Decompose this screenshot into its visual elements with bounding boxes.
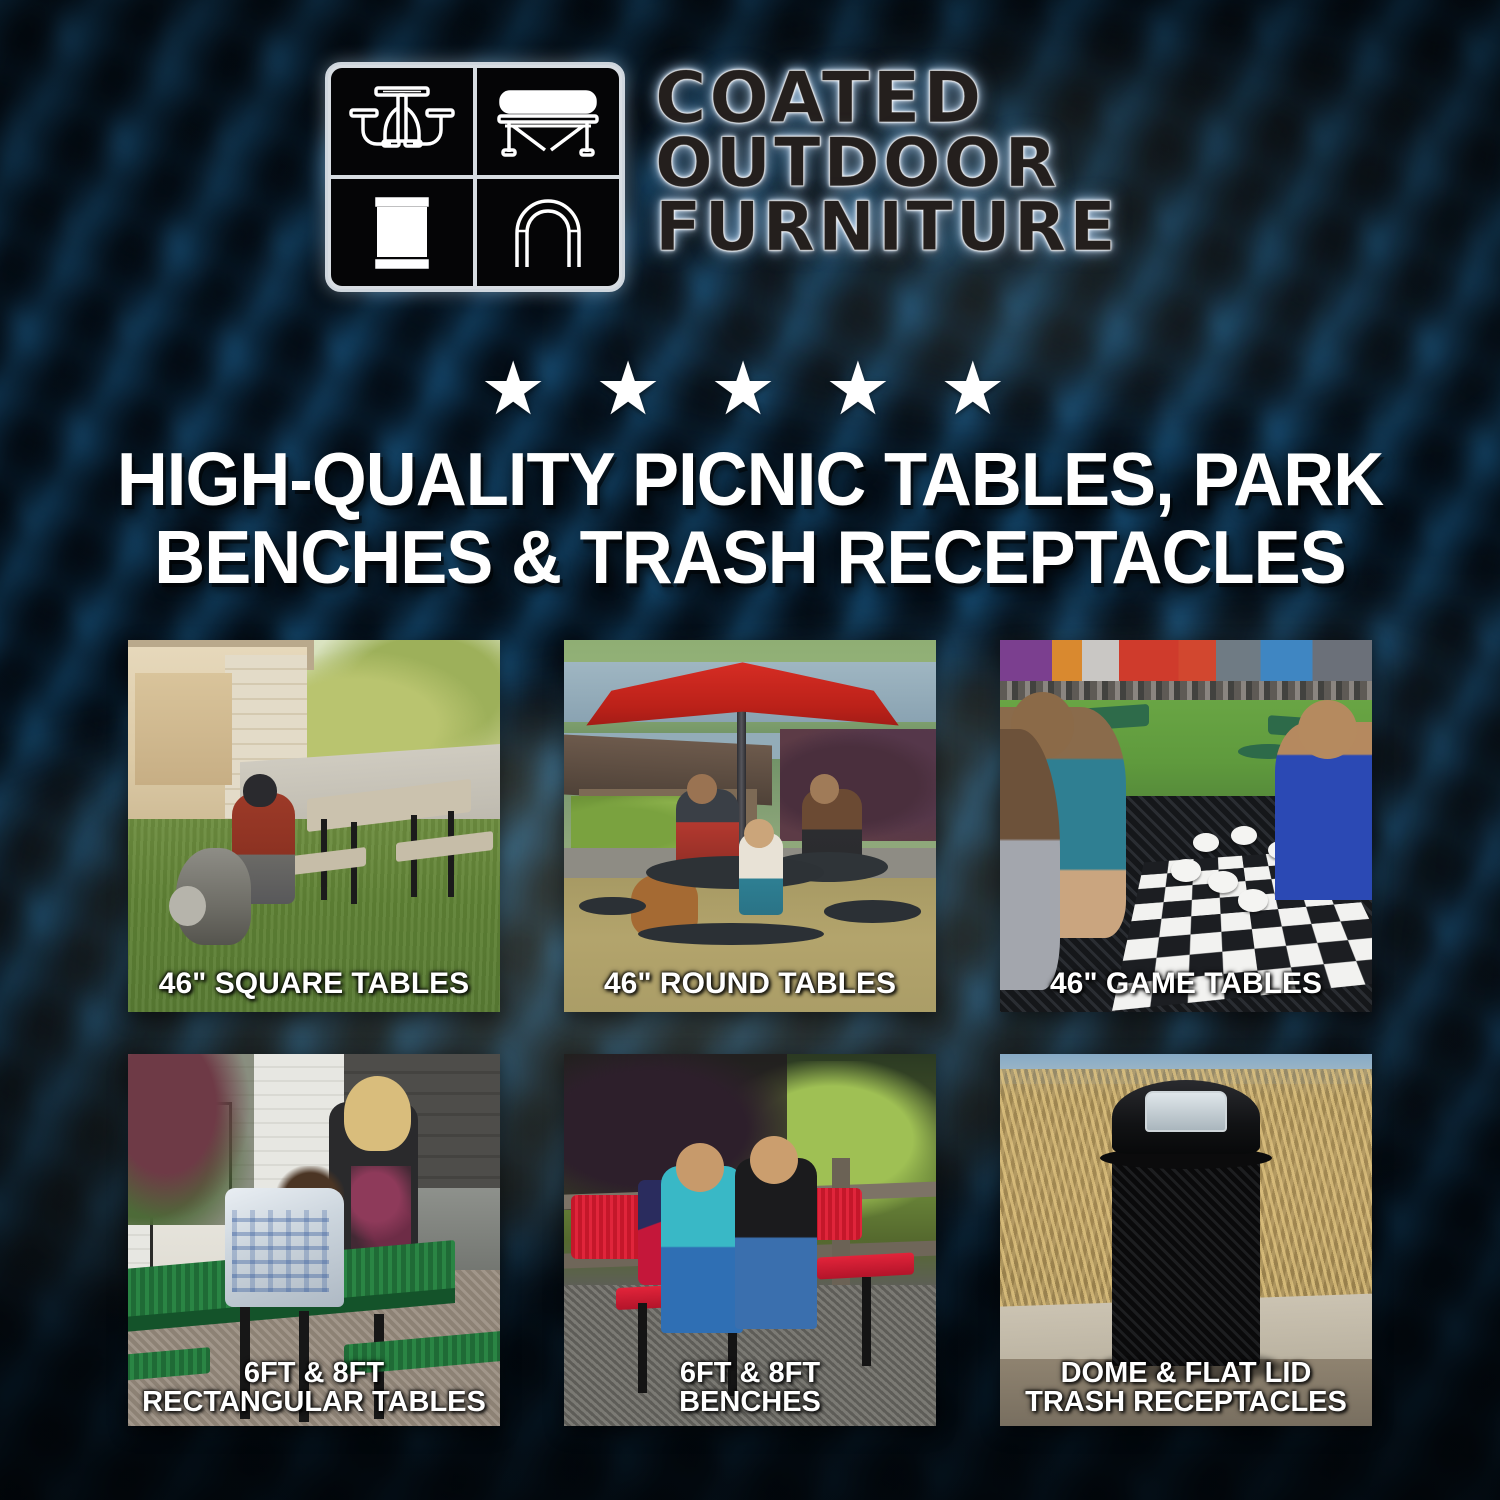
product-caption: 46" SQUARE TABLES — [128, 969, 500, 1000]
bike-rack-arch-icon — [477, 179, 619, 286]
page-title: HIGH-QUALITY PICNIC TABLES, PARK BENCHES… — [101, 440, 1398, 596]
product-caption: 46" GAME TABLES — [1000, 969, 1372, 1000]
product-tile-trash-receptacles[interactable]: DOME & FLAT LID TRASH RECEPTACLES — [1000, 1054, 1372, 1426]
product-tile-benches[interactable]: 6FT & 8FT BENCHES — [564, 1054, 936, 1426]
brand-header: COATED OUTDOOR FURNITURE — [0, 62, 1500, 292]
product-caption: 6FT & 8FT RECTANGULAR TABLES — [128, 1359, 500, 1418]
photo-round-tables — [564, 640, 936, 1012]
product-tile-rectangular-tables[interactable]: 6FT & 8FT RECTANGULAR TABLES — [128, 1054, 500, 1426]
brand-name-line-3: FURNITURE — [655, 196, 1175, 260]
promo-banner: COATED OUTDOOR FURNITURE ★ ★ ★ ★ ★ HIGH-… — [0, 0, 1500, 1500]
product-caption: DOME & FLAT LID TRASH RECEPTACLES — [1000, 1359, 1372, 1418]
product-grid: 46" SQUARE TABLES — [128, 640, 1372, 1426]
headline-line-1: HIGH-QUALITY PICNIC TABLES, PARK — [101, 440, 1398, 518]
star-rating: ★ ★ ★ ★ ★ — [0, 352, 1500, 426]
product-tile-game-tables[interactable]: 46" GAME TABLES — [1000, 640, 1372, 1012]
brand-name: COATED OUTDOOR FURNITURE — [655, 62, 1175, 260]
product-tile-round-tables[interactable]: 46" ROUND TABLES — [564, 640, 936, 1012]
picnic-table-icon — [331, 68, 473, 175]
trash-receptacle-icon — [331, 179, 473, 286]
brand-logo-mark — [325, 62, 625, 292]
product-caption: 6FT & 8FT BENCHES — [564, 1359, 936, 1418]
product-caption: 46" ROUND TABLES — [564, 969, 936, 1000]
bench-icon — [477, 68, 619, 175]
headline-line-2: BENCHES & TRASH RECEPTACLES — [101, 518, 1398, 596]
photo-game-tables — [1000, 640, 1372, 1012]
photo-square-tables — [128, 640, 500, 1012]
product-tile-square-tables[interactable]: 46" SQUARE TABLES — [128, 640, 500, 1012]
brand-name-line-1: COATED — [655, 66, 1175, 132]
brand-name-line-2: OUTDOOR — [655, 132, 1175, 196]
